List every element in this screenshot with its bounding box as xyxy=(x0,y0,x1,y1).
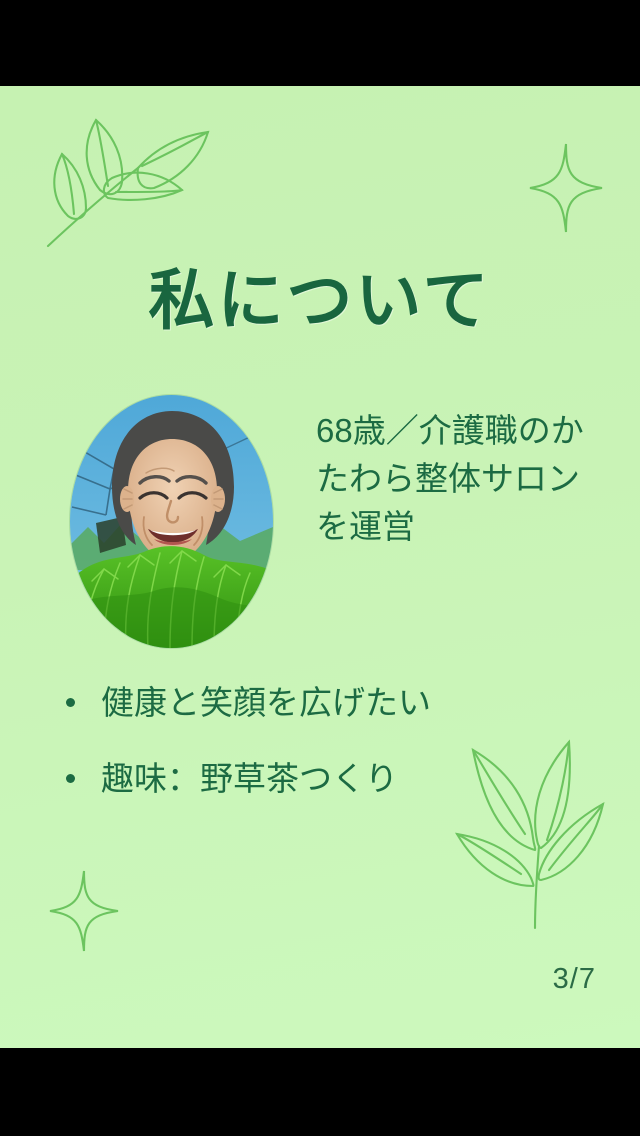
avatar xyxy=(70,395,273,648)
page-title: 私について xyxy=(0,262,640,338)
list-item: 健康と笑顔を広げたい xyxy=(60,681,580,725)
leaf-branch-icon xyxy=(30,104,220,259)
slide-canvas: 私について xyxy=(0,86,640,1048)
list-item: 趣味：野草茶つくり xyxy=(60,757,580,801)
bullet-dot-icon xyxy=(66,698,75,707)
letterbox-bottom xyxy=(0,1048,640,1136)
page-counter: 3/7 xyxy=(553,963,596,996)
list-item-label: 趣味：野草茶つくり xyxy=(101,757,398,801)
letterbox-top xyxy=(0,0,640,86)
bullet-list: 健康と笑顔を広げたい 趣味：野草茶つくり xyxy=(60,681,580,833)
sparkle-icon xyxy=(527,141,605,240)
profile-row: 68歳／介護職のかたわら整体サロンを運営 xyxy=(0,390,640,660)
lead-paragraph: 68歳／介護職のかたわら整体サロンを運営 xyxy=(316,407,584,551)
bullet-dot-icon xyxy=(66,774,75,783)
sparkle-icon xyxy=(47,868,121,959)
list-item-label: 健康と笑顔を広げたい xyxy=(101,681,431,725)
avatar-photo xyxy=(70,395,273,648)
